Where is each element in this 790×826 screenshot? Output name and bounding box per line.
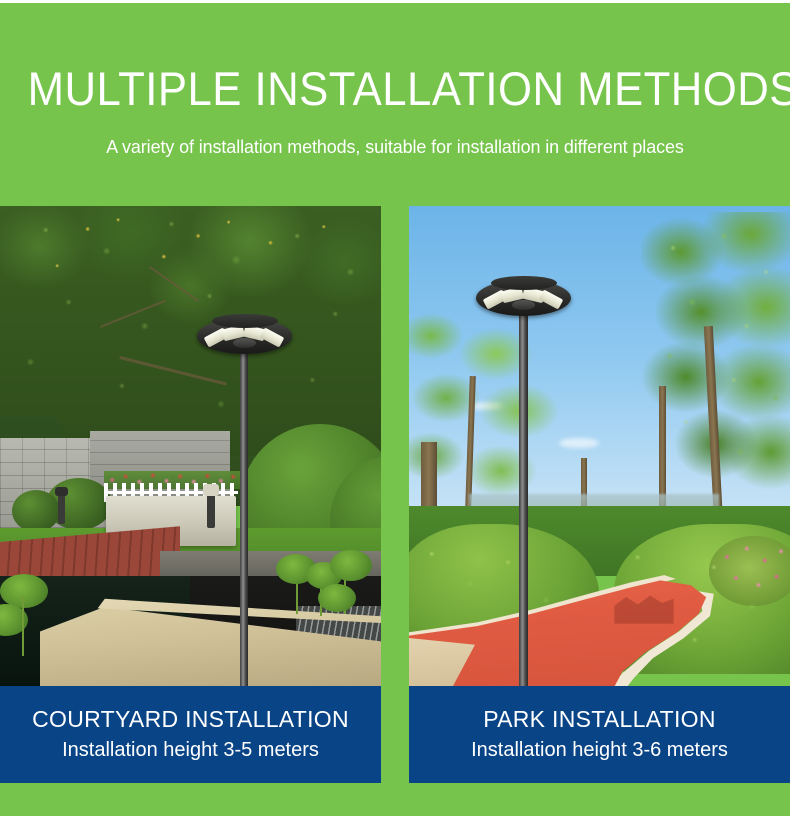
courtyard-lotus-leaf <box>318 584 356 612</box>
photo-park <box>409 206 790 686</box>
promo-banner: MULTIPLE INSTALLATION METHODS A variety … <box>0 0 790 826</box>
park-lamp-pole <box>519 308 528 686</box>
lamp-hub <box>233 338 256 348</box>
courtyard-lotus-leaf <box>330 550 372 581</box>
caption-title: PARK INSTALLATION <box>409 705 790 733</box>
courtyard-round-bush <box>12 490 60 532</box>
caption-courtyard: COURTYARD INSTALLATION Installation heig… <box>0 686 381 783</box>
courtyard-bollard-light-head <box>203 484 219 496</box>
park-lamp-solar-top <box>491 276 557 290</box>
caption-title: COURTYARD INSTALLATION <box>0 705 381 733</box>
lamp-led-module <box>260 327 285 347</box>
banner-header: MULTIPLE INSTALLATION METHODS A variety … <box>0 3 790 203</box>
courtyard-lotus-leaf <box>0 574 48 608</box>
courtyard-lamp-pole <box>240 346 248 686</box>
panel-park[interactable]: PARK INSTALLATION Installation height 3-… <box>409 206 790 783</box>
courtyard-bollard-light <box>207 494 215 528</box>
lamp-led-module <box>539 289 564 309</box>
page-subtitle: A variety of installation methods, suita… <box>12 134 778 160</box>
page-title: MULTIPLE INSTALLATION METHODS <box>28 61 763 117</box>
caption-subtitle: Installation height 3-6 meters <box>409 737 790 763</box>
courtyard-bollard-light <box>58 494 65 524</box>
caption-park: PARK INSTALLATION Installation height 3-… <box>409 686 790 783</box>
courtyard-yellow-blossoms <box>0 206 381 436</box>
courtyard-bollard-light-head <box>55 487 68 496</box>
photo-courtyard <box>0 206 381 686</box>
courtyard-lotus-stem <box>22 596 24 656</box>
lamp-hub <box>512 300 535 310</box>
courtyard-lamp-solar-top <box>212 314 278 328</box>
panel-courtyard[interactable]: COURTYARD INSTALLATION Installation heig… <box>0 206 381 783</box>
caption-subtitle: Installation height 3-5 meters <box>0 737 381 763</box>
